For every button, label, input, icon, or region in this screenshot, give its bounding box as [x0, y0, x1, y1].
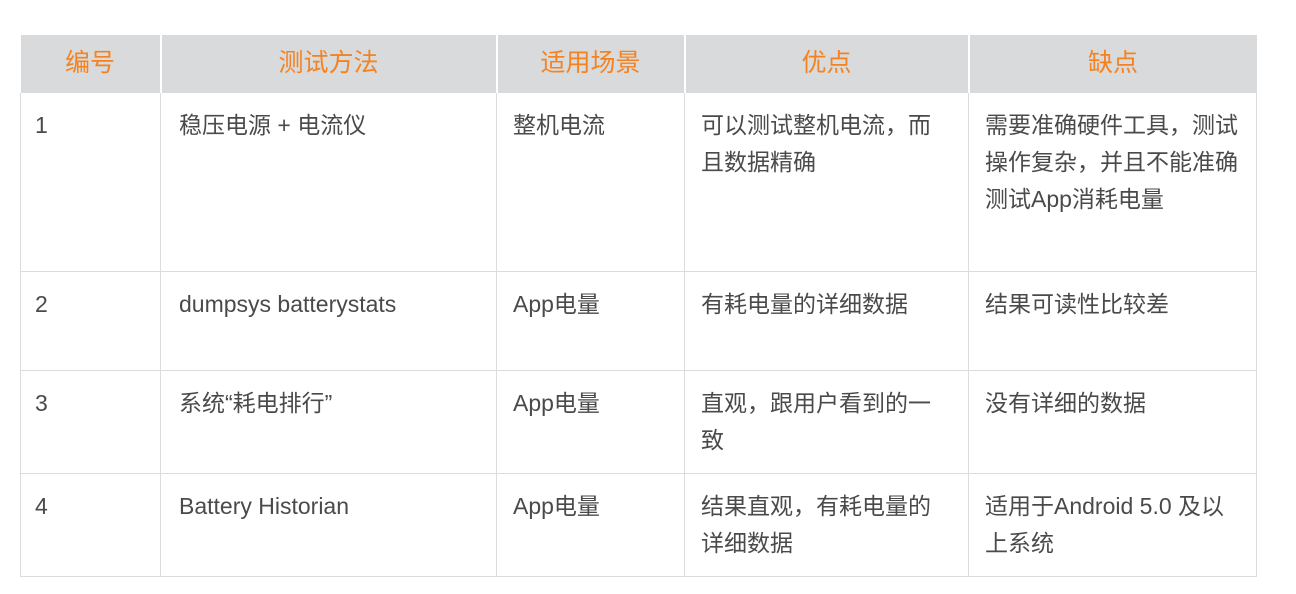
- comparison-table-container: 编号 测试方法 适用场景 优点 缺点 1 稳压电源 + 电流仪 整机电流 可以测…: [20, 35, 1256, 577]
- cell-pros: 结果直观，有耗电量的详细数据: [685, 473, 969, 576]
- table-row: 4 Battery Historian App电量 结果直观，有耗电量的详细数据…: [21, 473, 1257, 576]
- column-header-method: 测试方法: [161, 35, 497, 93]
- battery-test-method-comparison-table: 编号 测试方法 适用场景 优点 缺点 1 稳压电源 + 电流仪 整机电流 可以测…: [20, 35, 1257, 577]
- cell-pros: 可以测试整机电流，而且数据精确: [685, 93, 969, 271]
- cell-id: 4: [21, 473, 161, 576]
- cell-id: 3: [21, 370, 161, 473]
- cell-method: 系统“耗电排行”: [161, 370, 497, 473]
- table-body: 1 稳压电源 + 电流仪 整机电流 可以测试整机电流，而且数据精确 需要准确硬件…: [21, 93, 1257, 576]
- cell-method: dumpsys batterystats: [161, 271, 497, 370]
- table-header: 编号 测试方法 适用场景 优点 缺点: [21, 35, 1257, 93]
- page-root: 编号 测试方法 适用场景 优点 缺点 1 稳压电源 + 电流仪 整机电流 可以测…: [0, 0, 1296, 594]
- cell-scenario: App电量: [497, 370, 685, 473]
- cell-method: 稳压电源 + 电流仪: [161, 93, 497, 271]
- table-row: 1 稳压电源 + 电流仪 整机电流 可以测试整机电流，而且数据精确 需要准确硬件…: [21, 93, 1257, 271]
- cell-cons: 没有详细的数据: [969, 370, 1257, 473]
- column-header-scenario: 适用场景: [497, 35, 685, 93]
- header-row: 编号 测试方法 适用场景 优点 缺点: [21, 35, 1257, 93]
- cell-cons: 结果可读性比较差: [969, 271, 1257, 370]
- cell-pros: 有耗电量的详细数据: [685, 271, 969, 370]
- column-header-id: 编号: [21, 35, 161, 93]
- table-row: 2 dumpsys batterystats App电量 有耗电量的详细数据 结…: [21, 271, 1257, 370]
- cell-scenario: App电量: [497, 473, 685, 576]
- cell-id: 2: [21, 271, 161, 370]
- cell-cons: 适用于Android 5.0 及以上系统: [969, 473, 1257, 576]
- column-header-cons: 缺点: [969, 35, 1257, 93]
- cell-id: 1: [21, 93, 161, 271]
- cell-pros: 直观，跟用户看到的一致: [685, 370, 969, 473]
- cell-scenario: 整机电流: [497, 93, 685, 271]
- cell-scenario: App电量: [497, 271, 685, 370]
- table-row: 3 系统“耗电排行” App电量 直观，跟用户看到的一致 没有详细的数据: [21, 370, 1257, 473]
- column-header-pros: 优点: [685, 35, 969, 93]
- cell-method: Battery Historian: [161, 473, 497, 576]
- cell-cons: 需要准确硬件工具，测试操作复杂，并且不能准确测试App消耗电量: [969, 93, 1257, 271]
